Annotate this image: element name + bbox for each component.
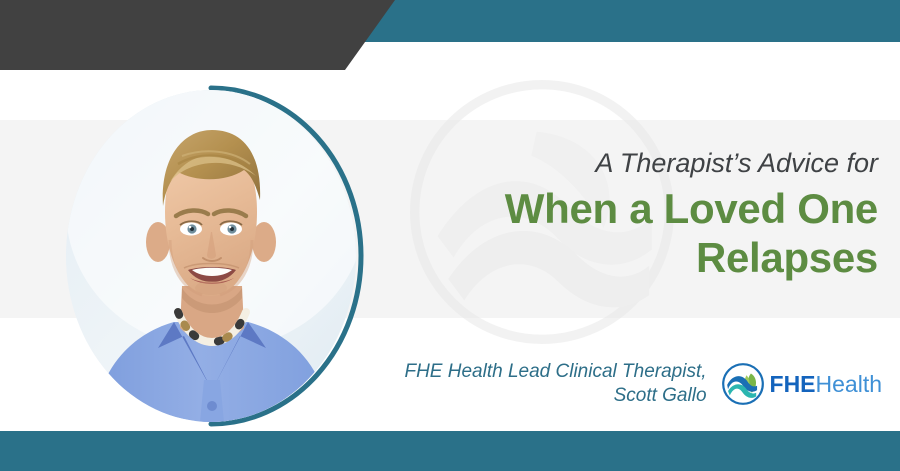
headline-line-2: Relapses <box>696 234 878 281</box>
eyebrow-text: A Therapist’s Advice for <box>318 146 878 180</box>
expert-opinion-banner: Expert Opinion <box>0 0 900 471</box>
fhe-health-wordmark: FHEHealth <box>770 371 882 397</box>
headline-block: A Therapist’s Advice for When a Loved On… <box>318 146 878 282</box>
portrait-photo <box>66 90 356 422</box>
brand-primary: FHE <box>770 371 816 397</box>
headline-line-1: When a Loved One <box>505 185 878 232</box>
bottom-accent-bar <box>0 431 900 471</box>
page-title: When a Loved One Relapses <box>318 184 878 282</box>
speaker-credit: FHE Health Lead Clinical Therapist, Scot… <box>404 360 706 408</box>
portrait-illustration-icon <box>66 90 356 422</box>
fhe-logo-mark-icon <box>721 362 765 406</box>
brand-secondary: Health <box>816 371 882 397</box>
fhe-health-logo[interactable]: FHEHealth <box>721 362 882 406</box>
expert-opinion-ribbon <box>0 0 395 70</box>
credit-row: FHE Health Lead Clinical Therapist, Scot… <box>404 360 882 408</box>
